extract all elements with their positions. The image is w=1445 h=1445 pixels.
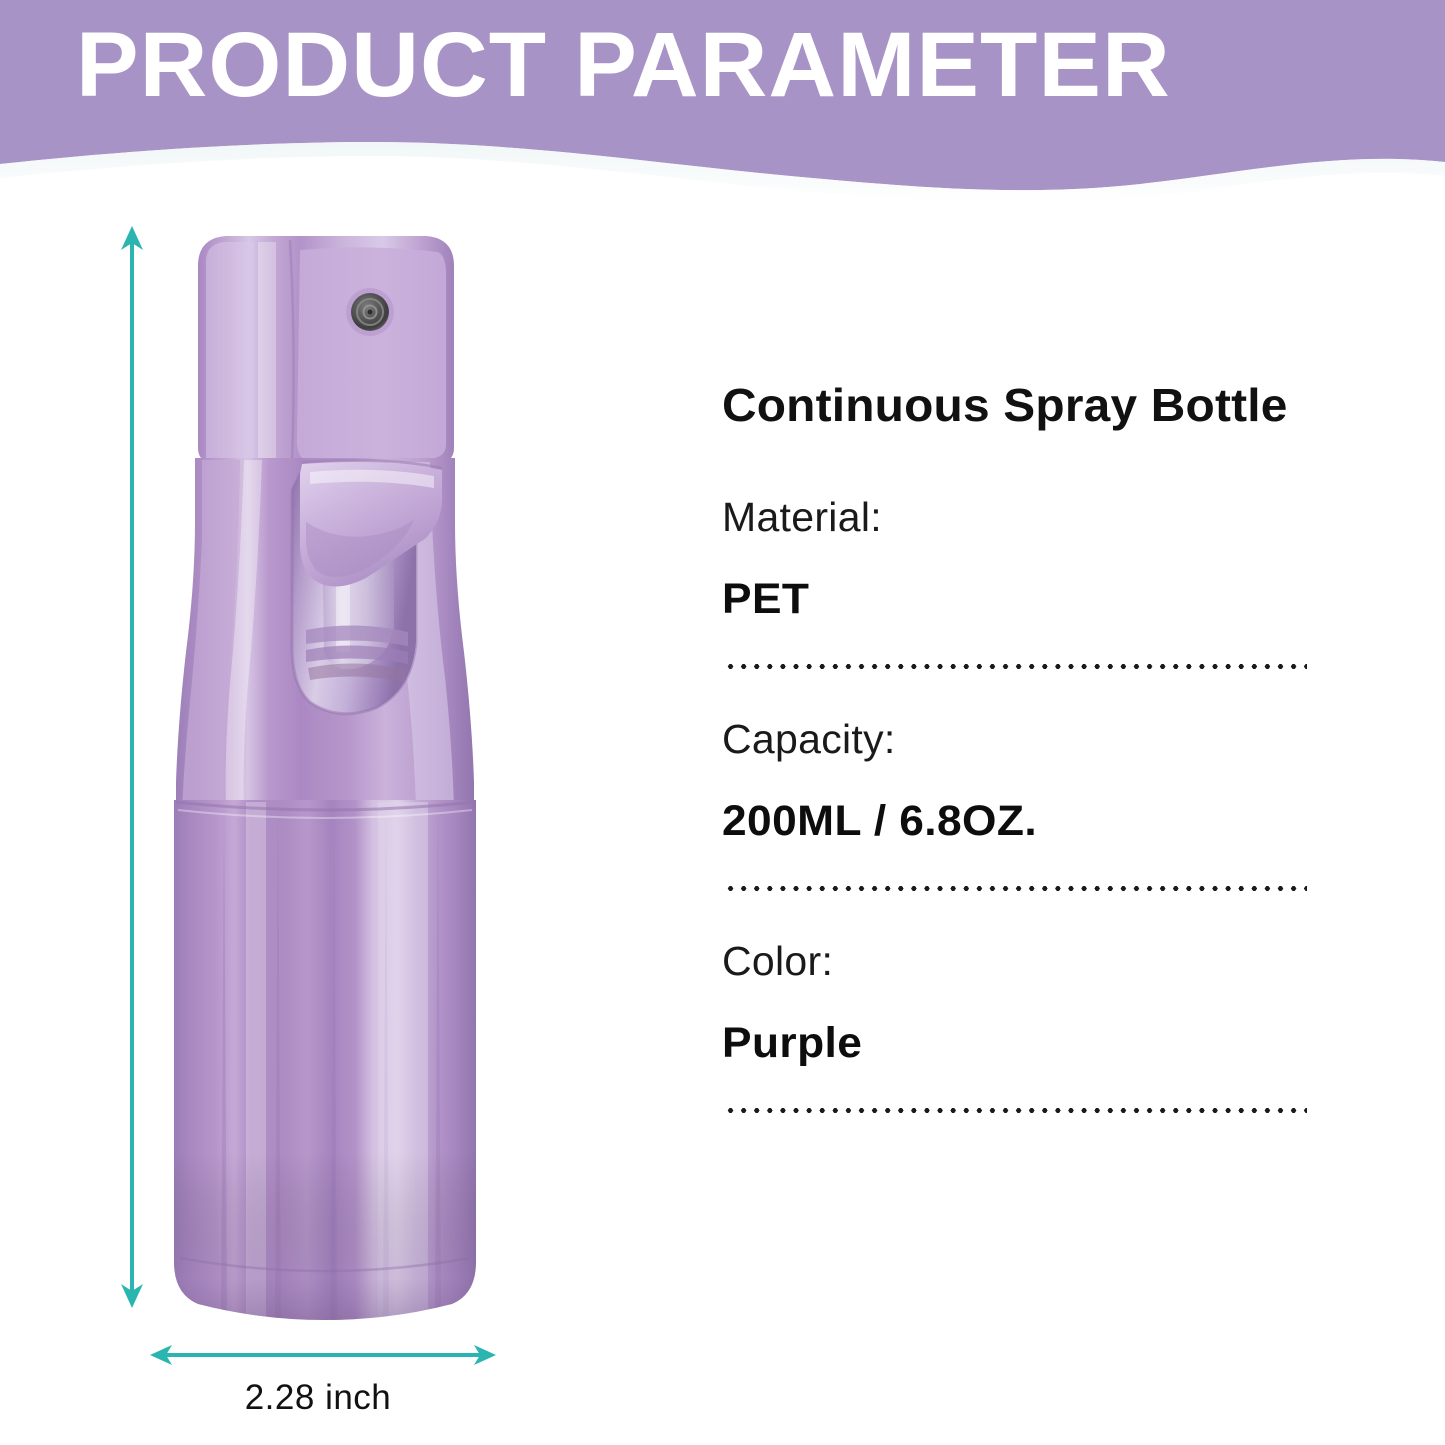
product-image	[150, 222, 500, 1322]
spray-bottle-illustration	[150, 222, 500, 1322]
bottle-cap-group	[198, 236, 454, 464]
header-banner: PRODUCT PARAMETER	[0, 0, 1445, 200]
base-shadow	[150, 1152, 500, 1322]
product-name: Continuous Spray Bottle	[722, 378, 1336, 432]
spec-divider-1	[724, 664, 1307, 669]
spec-label-color: Color:	[722, 938, 1312, 985]
width-dimension-guide	[148, 1340, 498, 1370]
spec-row-capacity: Capacity: 200ML / 6.8OZ.	[722, 716, 1312, 846]
spec-row-material: Material: PET	[722, 494, 1312, 624]
spec-label-material: Material:	[722, 494, 1312, 541]
bottle-body-group	[150, 800, 500, 1322]
spec-divider-3	[724, 1108, 1307, 1113]
spec-value-capacity: 200ML / 6.8OZ.	[722, 797, 1330, 846]
pump-collar	[306, 625, 408, 682]
cap-left-highlight	[206, 242, 254, 464]
product-parameter-infographic: PRODUCT PARAMETER	[0, 0, 1445, 1445]
width-dimension-label: 2.28 inch	[148, 1378, 488, 1418]
page-title: PRODUCT PARAMETER	[76, 17, 1198, 113]
spec-value-color: Purple	[722, 1019, 1330, 1068]
spec-divider-2	[724, 886, 1307, 891]
spec-panel: Continuous Spray Bottle Material: PET Ca…	[722, 378, 1312, 1113]
nozzle-face-panel	[297, 247, 446, 458]
spec-row-color: Color: Purple	[722, 938, 1312, 1068]
nozzle-aperture	[368, 310, 373, 315]
cap-specular-stripe	[258, 242, 276, 464]
spec-value-material: PET	[722, 575, 1330, 624]
height-dimension-guide	[112, 222, 152, 1312]
spec-label-capacity: Capacity:	[722, 716, 1312, 763]
